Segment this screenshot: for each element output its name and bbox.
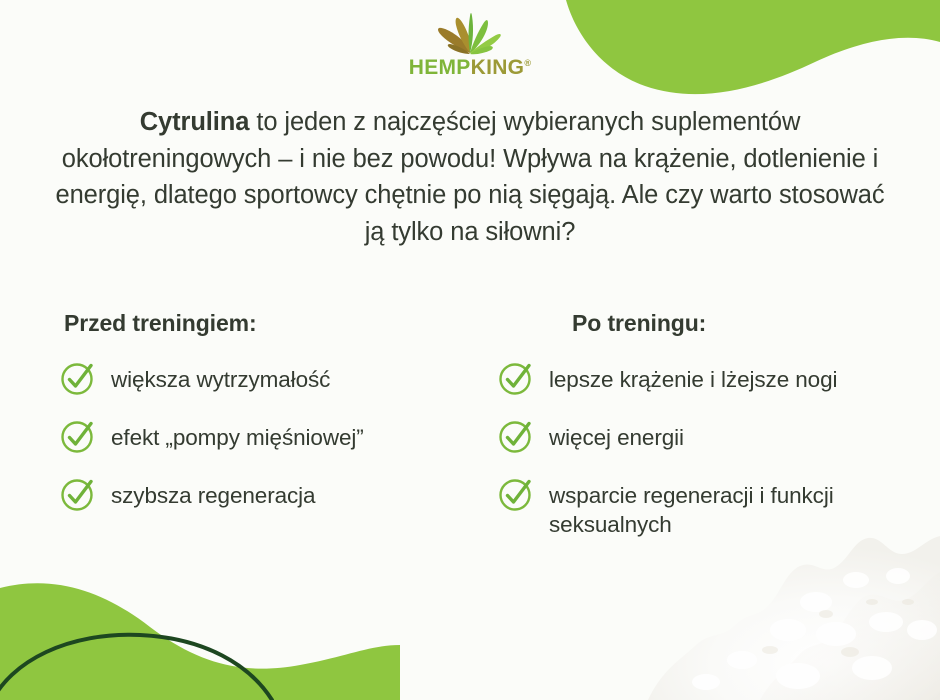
list-item: szybsza regeneracja: [58, 479, 498, 519]
brand-name-part1: HEMP: [409, 56, 471, 79]
column-after-training: Po treningu: lepsze krążenie i lżejsze n…: [496, 310, 936, 558]
list-item-label: większa wytrzymałość: [111, 363, 330, 394]
infographic-canvas: HEMPKING® Cytrulina to jeden z najczęści…: [0, 0, 940, 700]
list-item: wsparcie regeneracji i funkcji seksualny…: [496, 479, 936, 540]
list-item: lepsze krążenie i lżejsze nogi: [496, 363, 936, 403]
check-circle-icon: [496, 416, 536, 456]
column-title-before: Przed treningiem:: [64, 310, 498, 337]
check-circle-icon: [58, 416, 98, 456]
brand-name-part2: KING: [471, 56, 525, 79]
list-item: większa wytrzymałość: [58, 363, 498, 403]
wave-bottom-left: [0, 583, 400, 700]
brand-wordmark: HEMPKING®: [385, 57, 555, 78]
brand-logo: HEMPKING®: [385, 10, 555, 78]
list-item-label: lepsze krążenie i lżejsze nogi: [549, 363, 837, 394]
list-item-label: więcej energii: [549, 421, 684, 452]
intro-lead-word: Cytrulina: [140, 108, 250, 136]
list-item: efekt „pompy mięśniowej”: [58, 421, 498, 461]
decorative-arc: [0, 635, 272, 700]
list-item-label: wsparcie regeneracji i funkcji seksualny…: [549, 479, 849, 540]
column-before-training: Przed treningiem: większa wytrzymałość e…: [58, 310, 498, 537]
list-item-label: szybsza regeneracja: [111, 479, 315, 510]
column-title-after: Po treningu:: [572, 310, 936, 337]
check-circle-icon: [496, 474, 536, 514]
list-item-label: efekt „pompy mięśniowej”: [111, 421, 364, 452]
check-circle-icon: [58, 358, 98, 398]
intro-paragraph: Cytrulina to jeden z najczęściej wybiera…: [55, 104, 885, 251]
list-item: więcej energii: [496, 421, 936, 461]
hemp-leaf-icon: [433, 10, 507, 56]
registered-trademark-icon: ®: [524, 58, 531, 68]
check-circle-icon: [58, 474, 98, 514]
check-circle-icon: [496, 358, 536, 398]
wave-top-right: [566, 0, 940, 94]
